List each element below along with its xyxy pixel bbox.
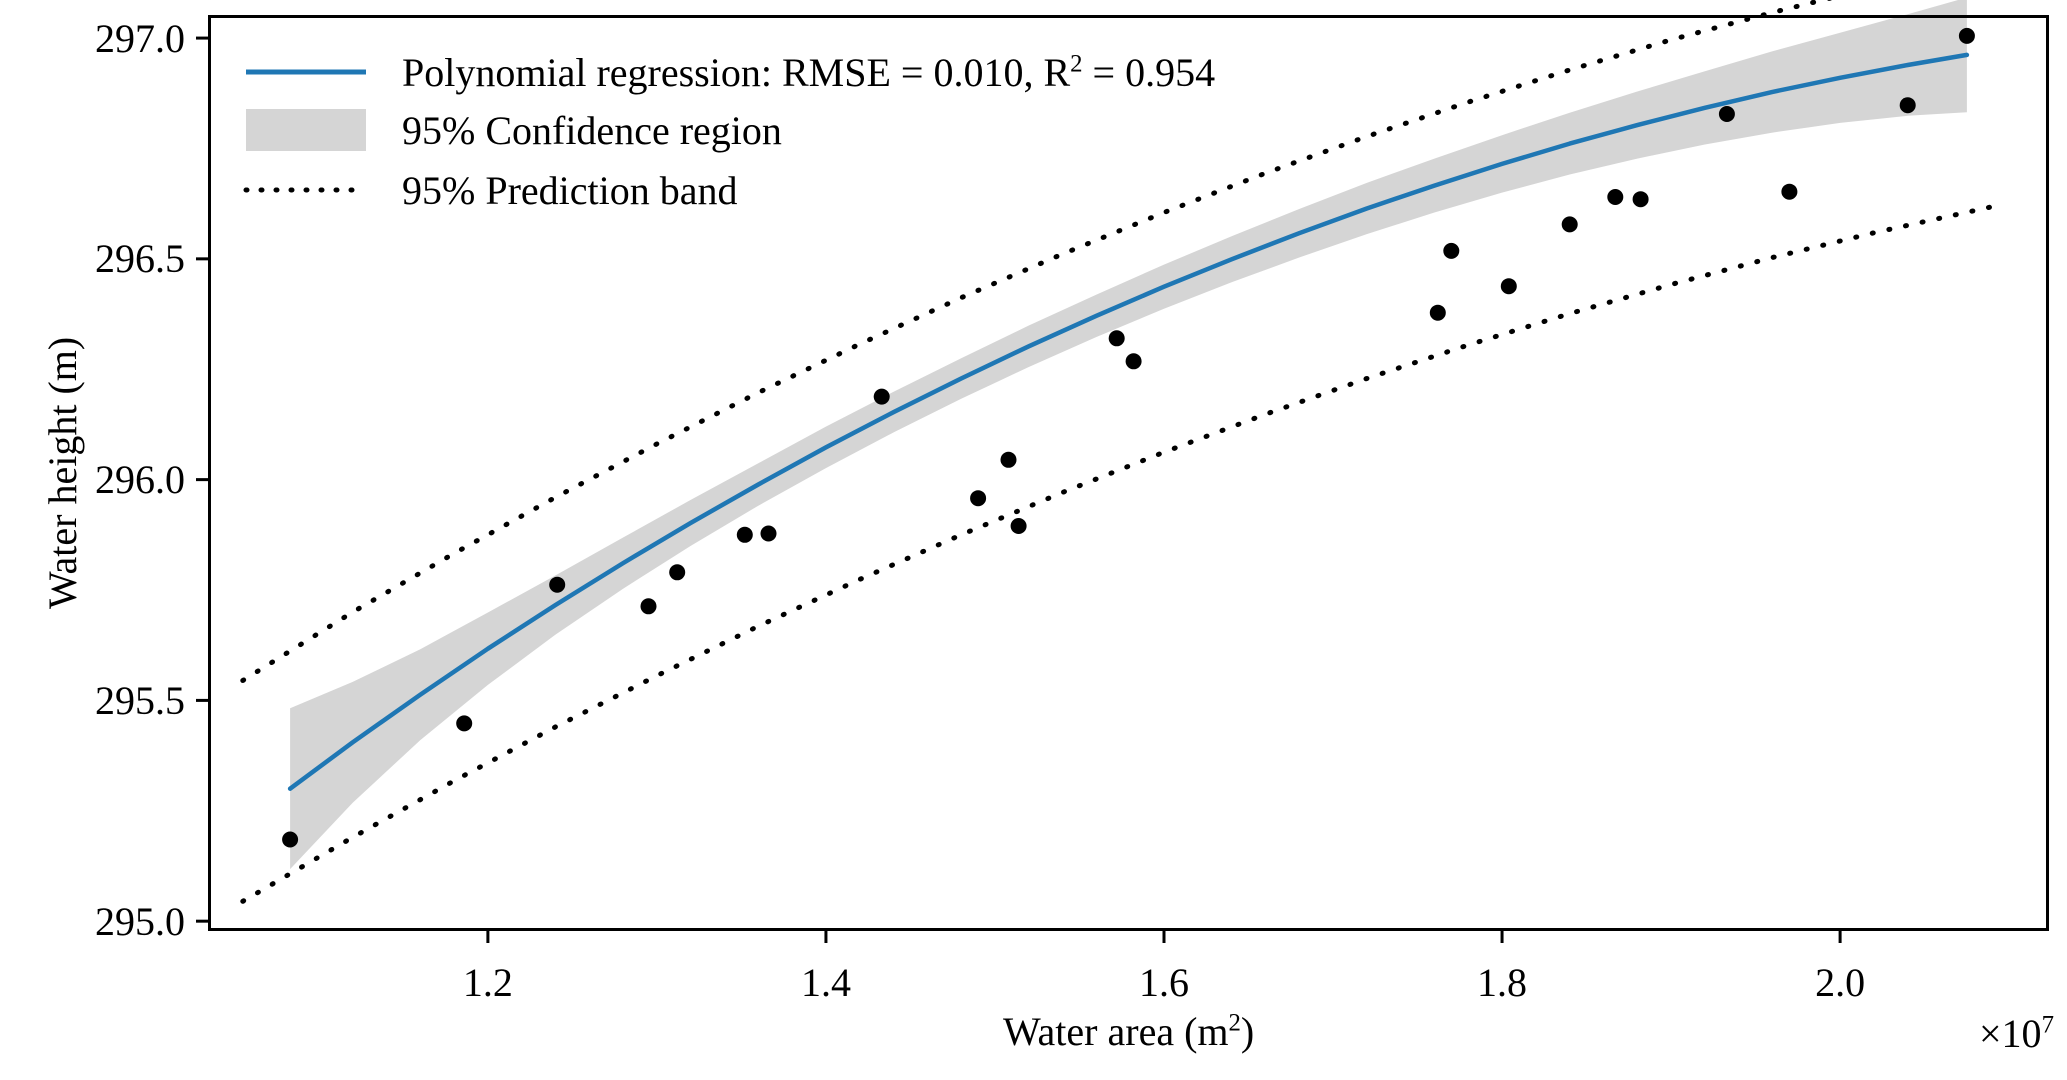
ytick-label-296-0: 296.0 bbox=[95, 456, 185, 503]
scatter-point-11 bbox=[1109, 330, 1125, 346]
regression-polyline bbox=[290, 55, 1967, 789]
xtick-label-1-2: 1.2 bbox=[463, 959, 513, 1006]
ytick-label-295-0: 295.0 bbox=[95, 898, 185, 945]
scatter-point-15 bbox=[1501, 278, 1517, 294]
ytick-label-297-0: 297.0 bbox=[95, 15, 185, 62]
ytick-label-295-5: 295.5 bbox=[95, 677, 185, 724]
x-axis-label: Water area (m2) bbox=[1003, 1008, 1254, 1055]
scatter-point-5 bbox=[737, 527, 753, 543]
y-axis-label: Water height (m) bbox=[39, 337, 86, 609]
scatter-point-10 bbox=[1011, 518, 1027, 534]
legend-regression-prefix: Polynomial regression: RMSE = 0.010, R bbox=[402, 50, 1070, 95]
scatter-point-17 bbox=[1607, 189, 1623, 205]
xtick-label-2-0: 2.0 bbox=[1815, 959, 1865, 1006]
scatter-point-19 bbox=[1719, 106, 1735, 122]
ytick-label-296-5: 296.5 bbox=[95, 235, 185, 282]
legend-regression-superscript: 2 bbox=[1070, 50, 1082, 77]
legend-marker-group bbox=[246, 72, 366, 190]
scatter-point-1 bbox=[456, 715, 472, 731]
regression-line bbox=[290, 55, 1967, 789]
scatter-point-3 bbox=[641, 598, 657, 614]
scatter-point-4 bbox=[669, 564, 685, 580]
xtick-label-1-4: 1.4 bbox=[801, 959, 851, 1006]
figure-canvas: 297.0 296.5 296.0 295.5 295.0 1.2 1.4 1.… bbox=[0, 0, 2067, 1080]
y-axis-label-text: Water height (m) bbox=[40, 337, 85, 609]
scatter-point-9 bbox=[1001, 452, 1017, 468]
scatter-point-18 bbox=[1633, 191, 1649, 207]
legend-label-regression: Polynomial regression: RMSE = 0.010, R2 … bbox=[402, 49, 1215, 96]
scatter-point-16 bbox=[1562, 216, 1578, 232]
x-axis-label-base: Water area (m bbox=[1003, 1009, 1229, 1054]
x-offset-base: ×10 bbox=[1979, 1011, 2042, 1056]
x-axis-label-close: ) bbox=[1241, 1009, 1254, 1054]
scatter-point-21 bbox=[1900, 97, 1916, 113]
scatter-point-0 bbox=[282, 832, 298, 848]
legend-swatch-confidence-patch bbox=[246, 109, 366, 151]
legend-regression-suffix: = 0.954 bbox=[1083, 50, 1216, 95]
x-offset-superscript: 7 bbox=[2042, 1012, 2054, 1039]
scatter-point-7 bbox=[874, 389, 890, 405]
scatter-point-2 bbox=[549, 577, 565, 593]
plot-area bbox=[0, 0, 2067, 1080]
scatter-point-13 bbox=[1430, 305, 1446, 321]
legend-label-prediction-band: 95% Prediction band bbox=[402, 167, 738, 214]
legend-label-confidence-region: 95% Confidence region bbox=[402, 107, 782, 154]
scatter-point-12 bbox=[1126, 353, 1142, 369]
scatter-point-8 bbox=[970, 490, 986, 506]
scatter-point-14 bbox=[1443, 243, 1459, 259]
x-axis-offset-exponent: ×107 bbox=[1979, 1010, 2054, 1057]
scatter-point-22 bbox=[1959, 28, 1975, 44]
scatter-point-20 bbox=[1781, 184, 1797, 200]
scatter-point-6 bbox=[761, 526, 777, 542]
xtick-label-1-6: 1.6 bbox=[1139, 959, 1189, 1006]
xtick-label-1-8: 1.8 bbox=[1477, 959, 1527, 1006]
x-axis-label-superscript: 2 bbox=[1229, 1010, 1241, 1037]
